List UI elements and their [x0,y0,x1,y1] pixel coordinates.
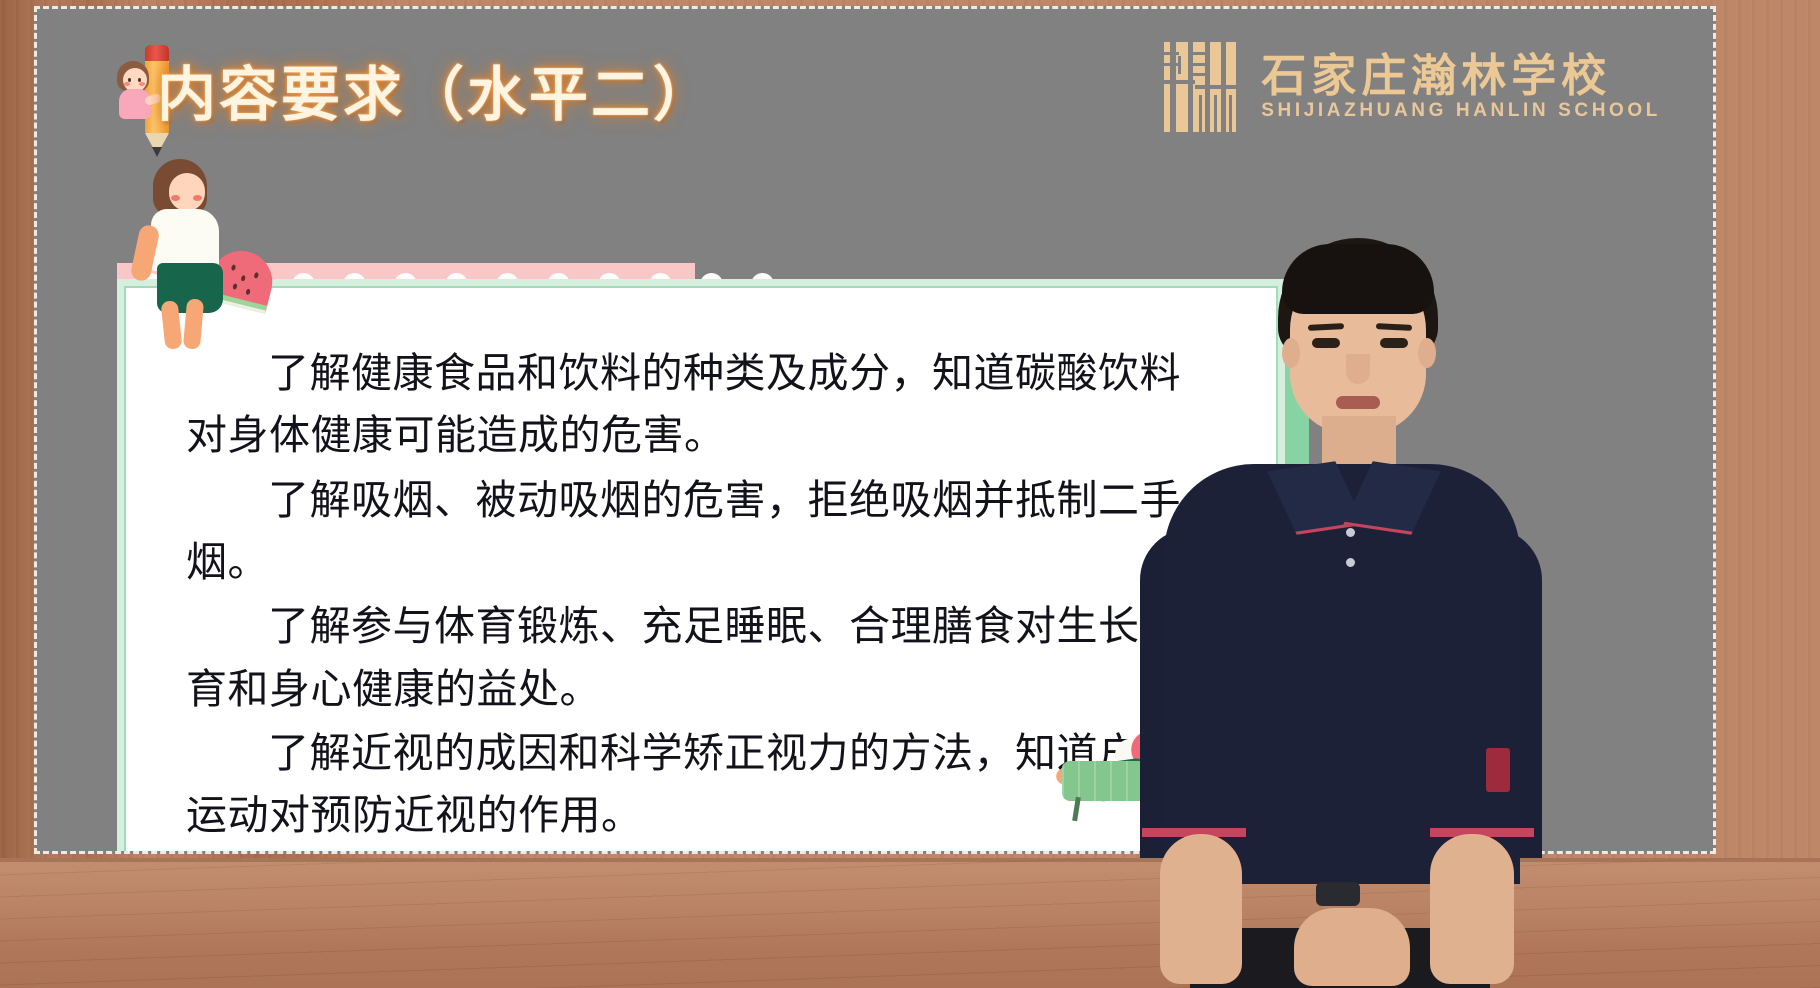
school-logo-text: 石家庄瀚林学校 SHIJIAZHUANG HANLIN SCHOOL [1261,54,1661,120]
girl-sitting-with-watermelon-icon [125,159,255,334]
desk-edge-line [0,858,1820,862]
girl-cheek-right [193,195,202,201]
content-paragraph: 了解吸烟、被动吸烟的危害，拒绝吸烟并抵制二手烟。 [186,469,1216,594]
chair-seat [1062,761,1212,801]
pencil-graphite-tip [152,147,162,157]
school-name-en: SHIJIAZHUANG HANLIN SCHOOL [1261,101,1661,120]
screen-root: 内容要求（水平二） [0,0,1820,988]
slide-title-row: 内容要求（水平二） [157,47,715,132]
school-name-cn: 石家庄瀚林学校 [1261,54,1661,99]
girl-cheek-left [171,195,180,201]
wooden-desk-foreground [0,858,1820,988]
content-paragraph: 了解参与体育锻炼、充足睡眠、合理膳食对生长发育和身心健康的益处。 [186,595,1216,720]
girl-shirt [151,209,219,271]
presentation-slide: 内容要求（水平二） [34,6,1716,854]
child-peeking-icon [115,61,157,123]
content-paragraph: 了解健康食品和饮料的种类及成分，知道碳酸饮料对身体健康可能造成的危害。 [186,342,1216,467]
girl-reclining-on-lounge-chair-icon [1052,709,1232,829]
page-title: 内容要求（水平二） [157,47,715,132]
seal-mark-icon [1161,39,1239,135]
school-logo: 石家庄瀚林学校 SHIJIAZHUANG HANLIN SCHOOL [1161,39,1661,135]
girl-face [169,173,205,211]
child-cheek-left [124,82,130,86]
child-cheek-right [139,82,145,86]
